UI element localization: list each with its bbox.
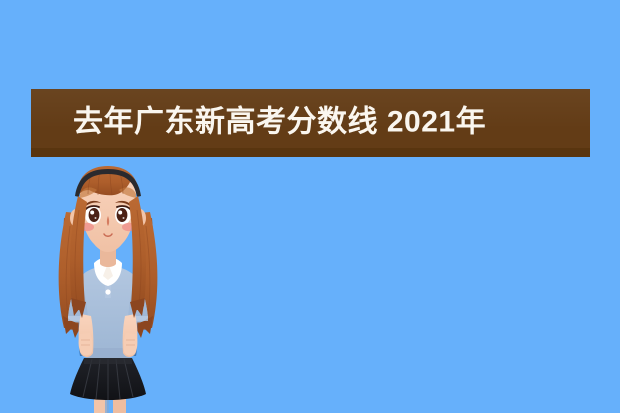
page-title: 去年广东新高考分数线 2021年 [73, 107, 486, 137]
page-canvas: 去年广东新高考分数线 2021年 [0, 0, 620, 413]
schoolgirl-illustration [34, 166, 182, 413]
skirt [70, 358, 146, 400]
title-banner: 去年广东新高考分数线 2021年 [31, 89, 590, 157]
banner-bottom-band [31, 148, 590, 157]
